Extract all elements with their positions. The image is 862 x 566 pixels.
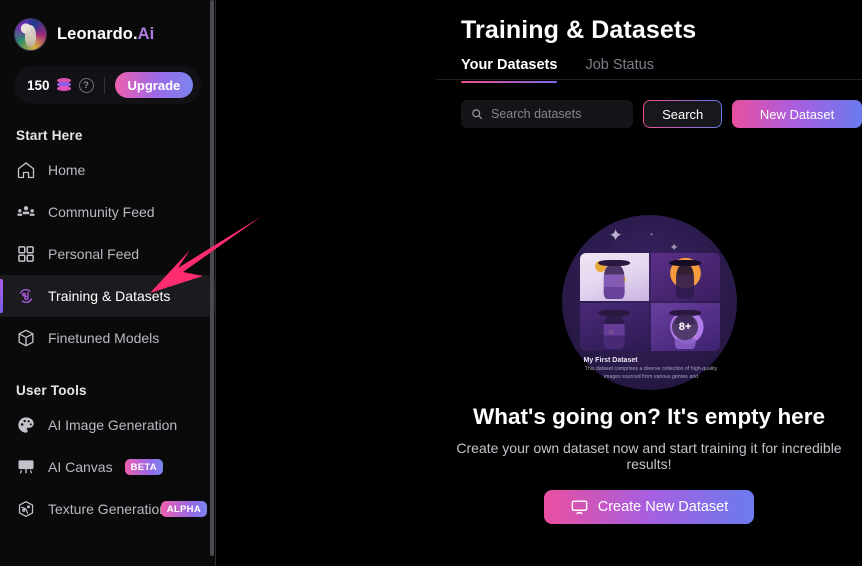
empty-state-title: What's going on? It's empty here	[436, 404, 862, 430]
empty-state-illustration: ✦ ✦ ✦ 8+ My First Dataset This dataset c…	[562, 215, 737, 390]
new-dataset-button[interactable]: New Dataset	[732, 100, 862, 128]
palette-icon	[16, 415, 36, 435]
sidebar-item-community-feed[interactable]: Community Feed	[0, 191, 215, 233]
sidebar-item-personal-feed[interactable]: Personal Feed	[0, 233, 215, 275]
section-title-user-tools: User Tools	[0, 359, 215, 398]
dataset-thumbnail	[651, 253, 720, 301]
people-group-icon	[16, 202, 36, 222]
sidebar-item-label: Home	[48, 162, 85, 178]
create-new-dataset-label: Create New Dataset	[598, 499, 729, 515]
sidebar-item-texture-generation[interactable]: Texture Generation ALPHA	[0, 488, 215, 530]
sparkle-icon: ✦	[650, 233, 654, 238]
sidebar-item-label: Training & Datasets	[48, 288, 170, 304]
illustration-caption: My First Dataset This dataset comprises …	[584, 357, 719, 381]
empty-state-subtitle: Create your own dataset now and start tr…	[436, 440, 862, 472]
nav-start-here: Home Community Feed	[0, 143, 215, 359]
sidebar-item-label: Community Feed	[48, 204, 155, 220]
scrollbar-thumb[interactable]	[210, 0, 214, 556]
sparkle-icon: ✦	[609, 227, 623, 244]
help-circle-icon[interactable]: ?	[79, 78, 94, 93]
brand-name-text: Leonardo.	[57, 25, 138, 43]
page-title: Training & Datasets	[216, 0, 862, 45]
sidebar-item-finetuned-models[interactable]: Finetuned Models	[0, 317, 215, 359]
search-input[interactable]	[491, 107, 623, 121]
dataset-thumbnail-grid: 8+	[580, 253, 720, 351]
avatar[interactable]	[14, 18, 47, 51]
sidebar-item-label: Personal Feed	[48, 246, 139, 262]
cube-icon	[16, 328, 36, 348]
upgrade-button[interactable]: Upgrade	[115, 72, 194, 98]
grid-squares-icon	[16, 244, 36, 264]
toolbar: Search New Dataset	[216, 83, 862, 128]
search-button[interactable]: Search	[643, 100, 722, 128]
sidebar: Leonardo.Ai 150 ? Upgrade Start Here Hom…	[0, 0, 216, 566]
caption-body: This dataset comprises a diverse collect…	[584, 366, 719, 381]
caption-title: My First Dataset	[584, 357, 719, 364]
sidebar-scrollbar[interactable]	[210, 0, 214, 556]
sidebar-item-training-datasets[interactable]: Training & Datasets	[0, 275, 215, 317]
badge-alpha: ALPHA	[161, 501, 207, 517]
sidebar-item-label: Texture Generation	[48, 501, 167, 517]
brand[interactable]: Leonardo.Ai	[0, 0, 215, 54]
training-datasets-icon	[16, 286, 36, 306]
sidebar-item-home[interactable]: Home	[0, 149, 215, 191]
sidebar-item-ai-canvas[interactable]: AI Canvas BETA	[0, 446, 215, 488]
dataset-thumbnail	[580, 303, 649, 351]
dataset-thumbnail	[580, 253, 649, 301]
overflow-count-badge: 8+	[672, 314, 698, 340]
sidebar-item-label: AI Canvas	[48, 459, 113, 475]
empty-state: ✦ ✦ ✦ 8+ My First Dataset This dataset c…	[436, 215, 862, 524]
texture-cube-icon	[16, 499, 36, 519]
search-box[interactable]	[461, 100, 633, 128]
nav-user-tools: AI Image Generation AI Canvas BETA	[0, 398, 215, 530]
divider	[104, 77, 105, 94]
coin-stack-icon	[57, 78, 72, 92]
section-title-start-here: Start Here	[0, 104, 215, 143]
header-divider	[436, 79, 862, 80]
monitor-icon	[570, 498, 589, 517]
home-icon	[16, 160, 36, 180]
dataset-thumbnail: 8+	[651, 303, 720, 351]
badge-beta: BETA	[125, 459, 163, 475]
create-new-dataset-button[interactable]: Create New Dataset	[544, 490, 755, 524]
brand-name-suffix: Ai	[138, 25, 155, 43]
sidebar-item-label: AI Image Generation	[48, 417, 177, 433]
credits-amount: 150	[27, 78, 50, 93]
app-window: Leonardo.Ai 150 ? Upgrade Start Here Hom…	[0, 0, 862, 566]
credits-pill: 150 ? Upgrade	[14, 66, 201, 104]
search-icon	[471, 108, 483, 120]
sidebar-item-label: Finetuned Models	[48, 330, 159, 346]
main-content: Training & Datasets Your Datasets Job St…	[216, 0, 862, 566]
sidebar-item-ai-image-generation[interactable]: AI Image Generation	[0, 404, 215, 446]
brand-name: Leonardo.Ai	[57, 25, 154, 44]
easel-icon	[16, 457, 36, 477]
